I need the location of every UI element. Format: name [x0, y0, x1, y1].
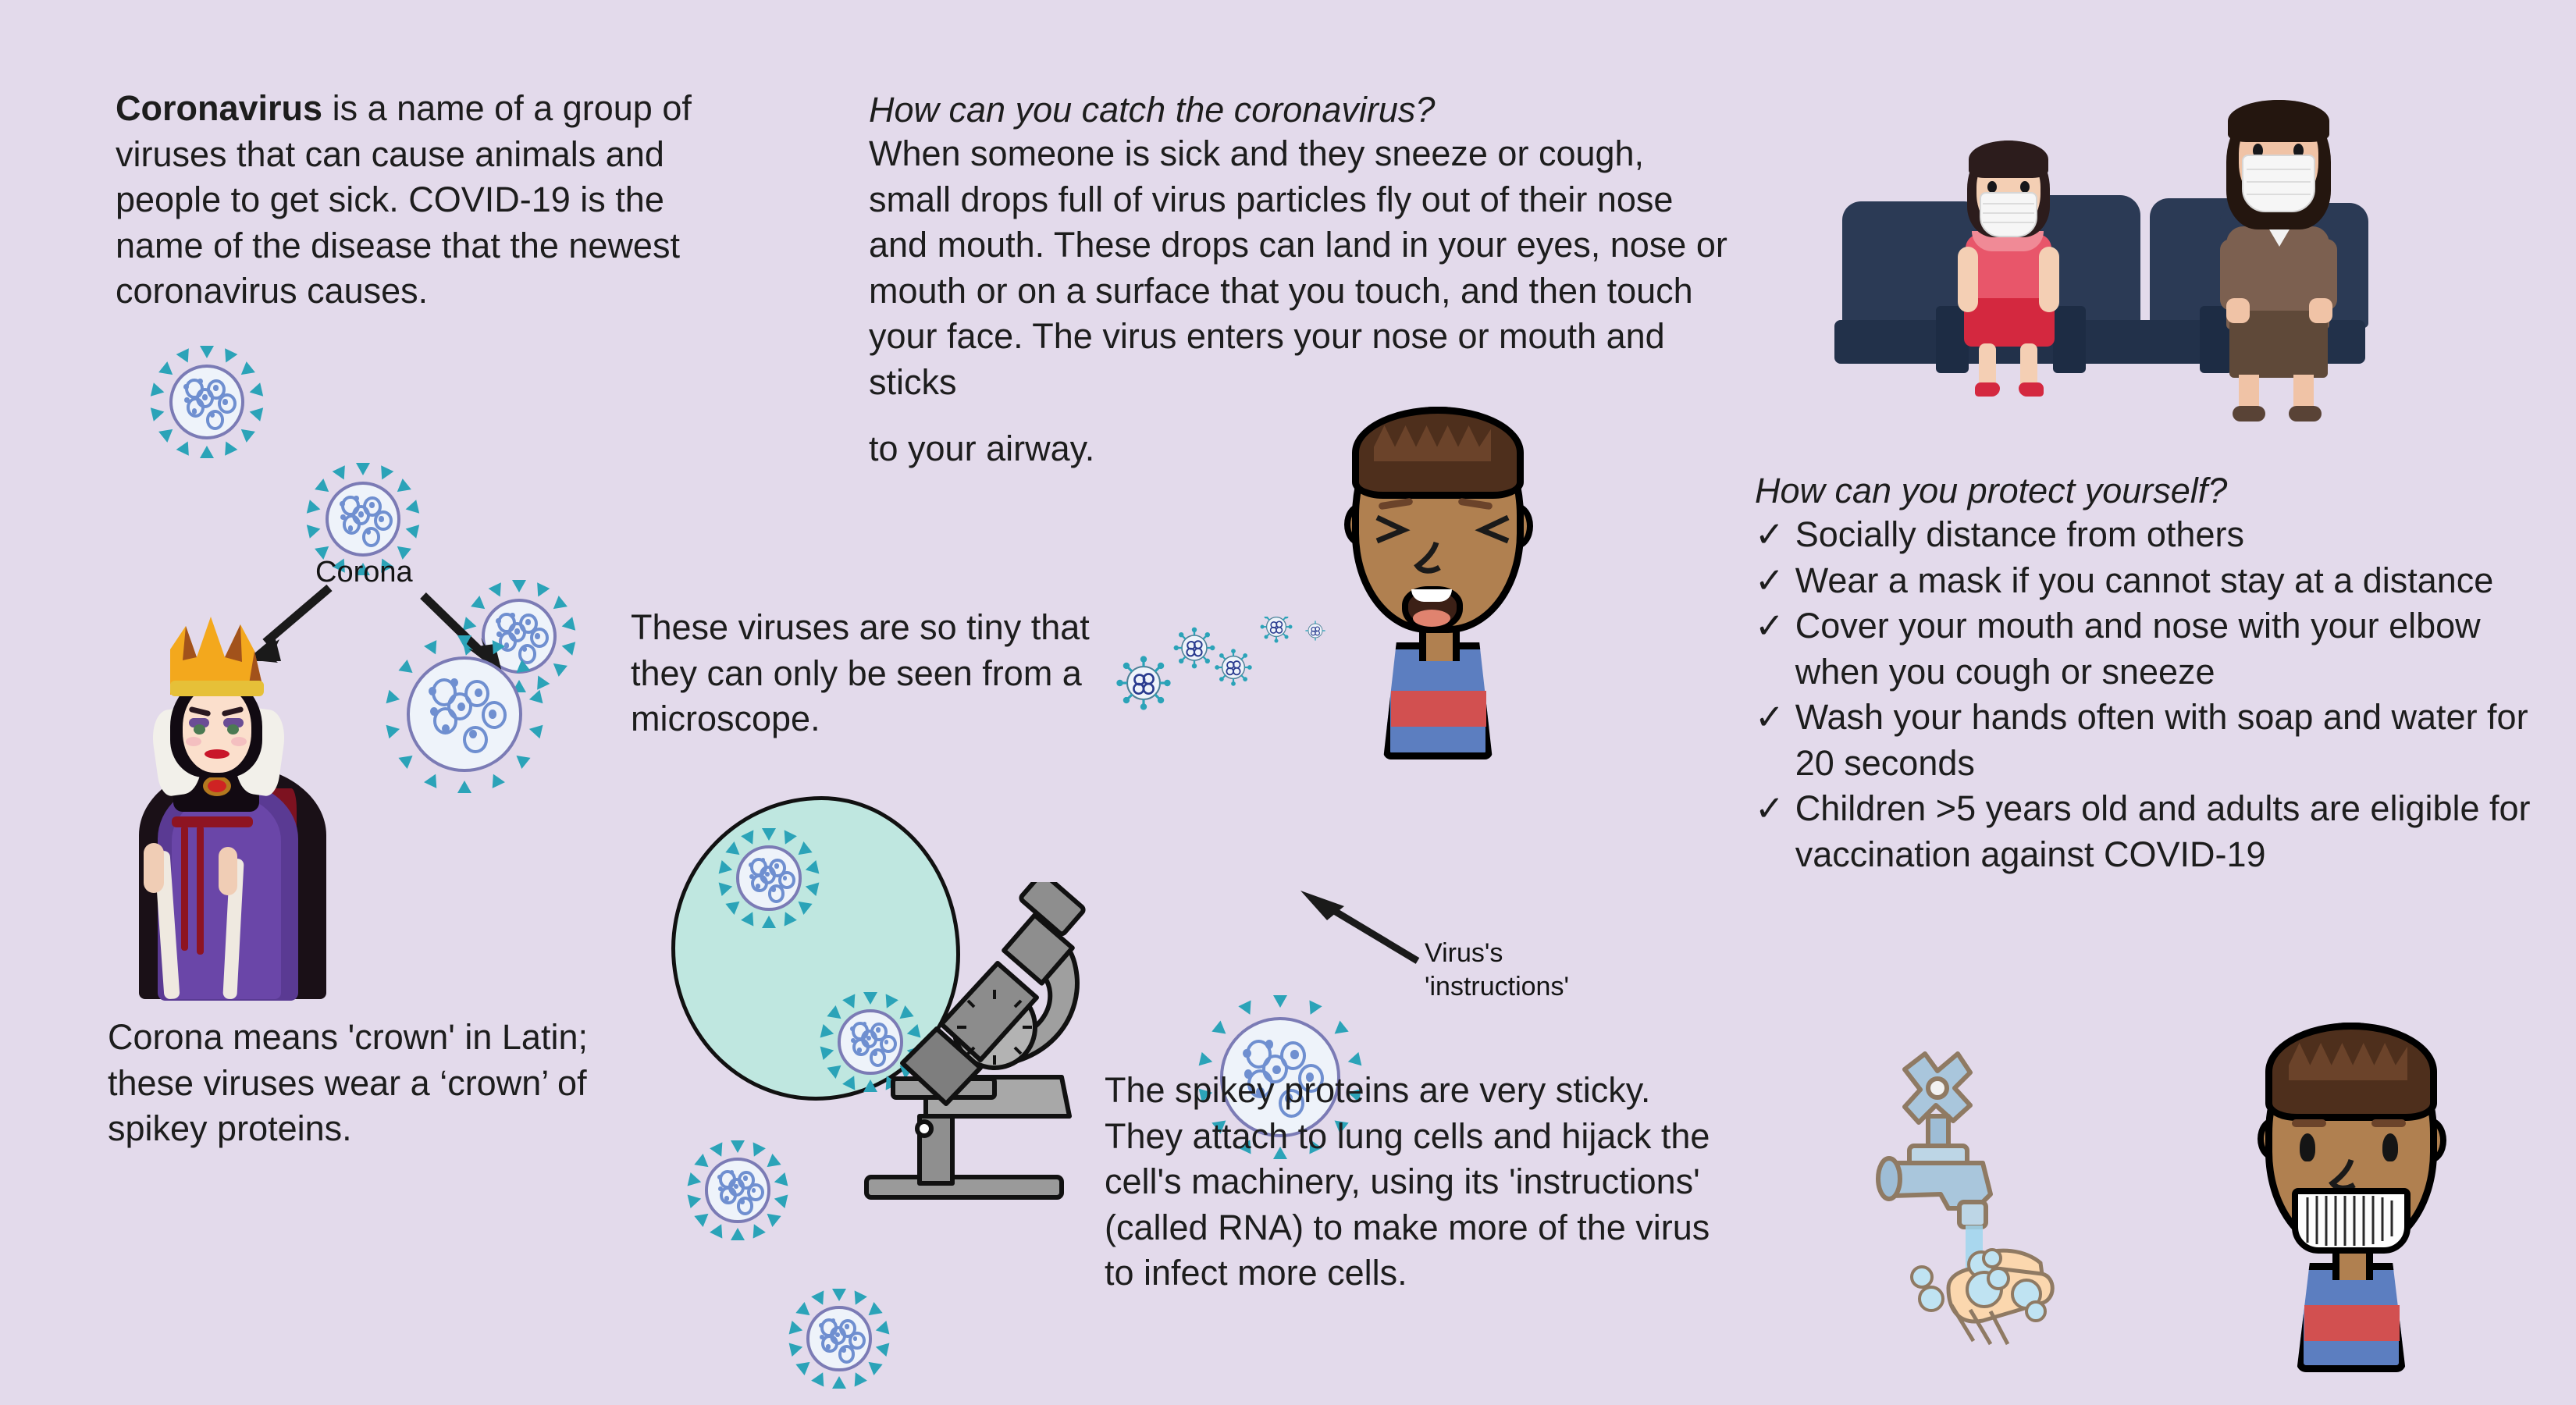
- check-icon: ✓: [1755, 786, 1784, 877]
- tap-icon: [1873, 1030, 2123, 1358]
- face-mask-icon: [1980, 192, 2037, 237]
- coughing-boy-illustration: [1327, 394, 1561, 769]
- spikey-note: The spikey proteins are very sticky. The…: [1105, 1068, 1721, 1297]
- check-icon: ✓: [1755, 603, 1784, 695]
- protect-item-text: Wash your hands often with soap and wate…: [1795, 695, 2543, 786]
- crown-note: Corona means 'crown' in Latin; these vir…: [108, 1015, 646, 1152]
- arrow-to-instructions: [1280, 886, 1429, 972]
- protect-item-text: Cover your mouth and nose with your elbo…: [1795, 603, 2543, 695]
- tiny-note: These viruses are so tiny that they can …: [631, 605, 1099, 742]
- instructions-label-line2: 'instructions': [1425, 970, 1569, 1004]
- virus-rna: [183, 379, 230, 425]
- protect-list-item: ✓ Cover your mouth and nose with your el…: [1755, 603, 2543, 695]
- large-virus-particle: [375, 624, 554, 804]
- instructions-label-line1: Virus's: [1425, 937, 1569, 970]
- protect-list: ✓ Socially distance from others ✓ Wear a…: [1755, 512, 2543, 877]
- microscope-icon: [827, 882, 1108, 1210]
- droplet-particles: [1112, 617, 1347, 773]
- check-icon: ✓: [1755, 512, 1784, 558]
- seated-people-illustration: [1827, 86, 2389, 398]
- protect-list-item: ✓ Children >5 years old and adults are e…: [1755, 786, 2543, 877]
- virus-rna: [717, 1170, 758, 1211]
- protect-list-item: ✓ Wear a mask if you cannot stay at a di…: [1755, 558, 2543, 604]
- catch-heading: How can you catch the coronavirus?: [869, 87, 1727, 133]
- catch-body: When someone is sick and they sneeze or …: [869, 131, 1735, 405]
- masked-boy-illustration: [2240, 1015, 2475, 1374]
- virus-rna: [749, 858, 789, 898]
- queen-illustration: [125, 609, 343, 999]
- intro-paragraph: Coronavirus is a name of a group of viru…: [116, 86, 732, 315]
- face-mask-icon: [2242, 155, 2315, 212]
- virus-rna: [340, 496, 386, 542]
- virus-rna: [429, 678, 500, 750]
- virus-particle: [148, 343, 265, 461]
- handwashing-illustration: [1873, 1030, 2123, 1358]
- check-icon: ✓: [1755, 558, 1784, 604]
- protect-list-item: ✓ Wash your hands often with soap and wa…: [1755, 695, 2543, 786]
- instructions-label: Virus's 'instructions': [1425, 937, 1569, 1003]
- protect-item-text: Wear a mask if you cannot stay at a dist…: [1795, 558, 2494, 604]
- microscope-illustration: [671, 773, 1108, 1210]
- check-icon: ✓: [1755, 695, 1784, 786]
- protect-list-item: ✓ Socially distance from others: [1755, 512, 2543, 558]
- crown-icon: [165, 614, 275, 699]
- catch-body-main: When someone is sick and they sneeze or …: [869, 133, 1727, 402]
- protect-heading: How can you protect yourself?: [1755, 468, 2535, 514]
- intro-bold-lead: Coronavirus: [116, 88, 322, 128]
- protect-item-text: Socially distance from others: [1795, 512, 2244, 558]
- protect-item-text: Children >5 years old and adults are eli…: [1795, 786, 2543, 877]
- virus-rna: [819, 1318, 859, 1359]
